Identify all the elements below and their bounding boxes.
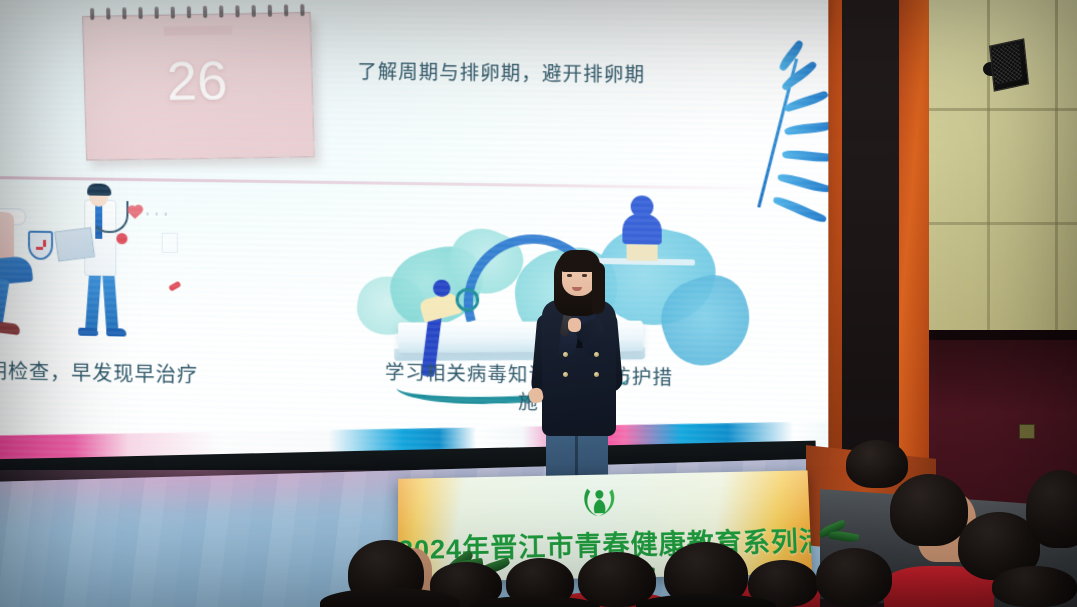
screenshot-root: 26 性 了解周期与排卵期，避开排卵期: [0, 0, 1077, 607]
slide-text-cycle-tip: 了解周期与排卵期，避开排卵期: [357, 60, 686, 91]
blazer-button: [563, 372, 568, 377]
dots-decoration-icon: [145, 212, 177, 216]
audience-head: [992, 566, 1077, 607]
presenter-eye-right: [582, 274, 587, 277]
clipboard-icon: [54, 227, 95, 261]
medical-shield-icon: [28, 231, 53, 260]
audience-head: [890, 474, 968, 546]
led-presentation-screen: 26 性 了解周期与排卵期，避开排卵期: [0, 0, 828, 487]
calendar-tab: [164, 26, 233, 36]
audience-head: [816, 548, 892, 607]
small-figure-head: [631, 195, 654, 218]
presenter-hair-side: [592, 262, 605, 314]
blazer-button: [594, 372, 599, 377]
small-figure-body: [622, 214, 661, 245]
magnifier-icon: [456, 288, 480, 312]
speaker-icon: [991, 43, 1022, 85]
presenter-hand-holding-mic: [568, 318, 581, 332]
doctor-shoe-right: [106, 328, 126, 336]
audience-head: [578, 552, 656, 607]
small-figure-legs: [627, 242, 658, 261]
reader-figure-head: [433, 280, 450, 298]
green-swoosh-figure-logo-icon: [579, 482, 620, 520]
wall-dark-recess: [842, 0, 899, 470]
blazer-button: [563, 352, 568, 357]
stethoscope-head-icon: [114, 231, 129, 246]
wall-trim: [929, 330, 1077, 340]
blazer-button: [594, 352, 599, 357]
faint-box-decoration: [162, 233, 178, 253]
presenter-eye-left: [567, 274, 572, 277]
slide-text-checkup-tip: 定期检查，早发现早治疗: [0, 358, 217, 391]
wall-wood-pillar-right: [899, 0, 929, 500]
audience-head: [846, 440, 908, 488]
doctor-hair: [87, 183, 111, 195]
doctor-shoe-left: [78, 328, 98, 336]
wall-plate-icon: [1019, 424, 1035, 439]
calendar-day-number: 26: [83, 48, 311, 114]
